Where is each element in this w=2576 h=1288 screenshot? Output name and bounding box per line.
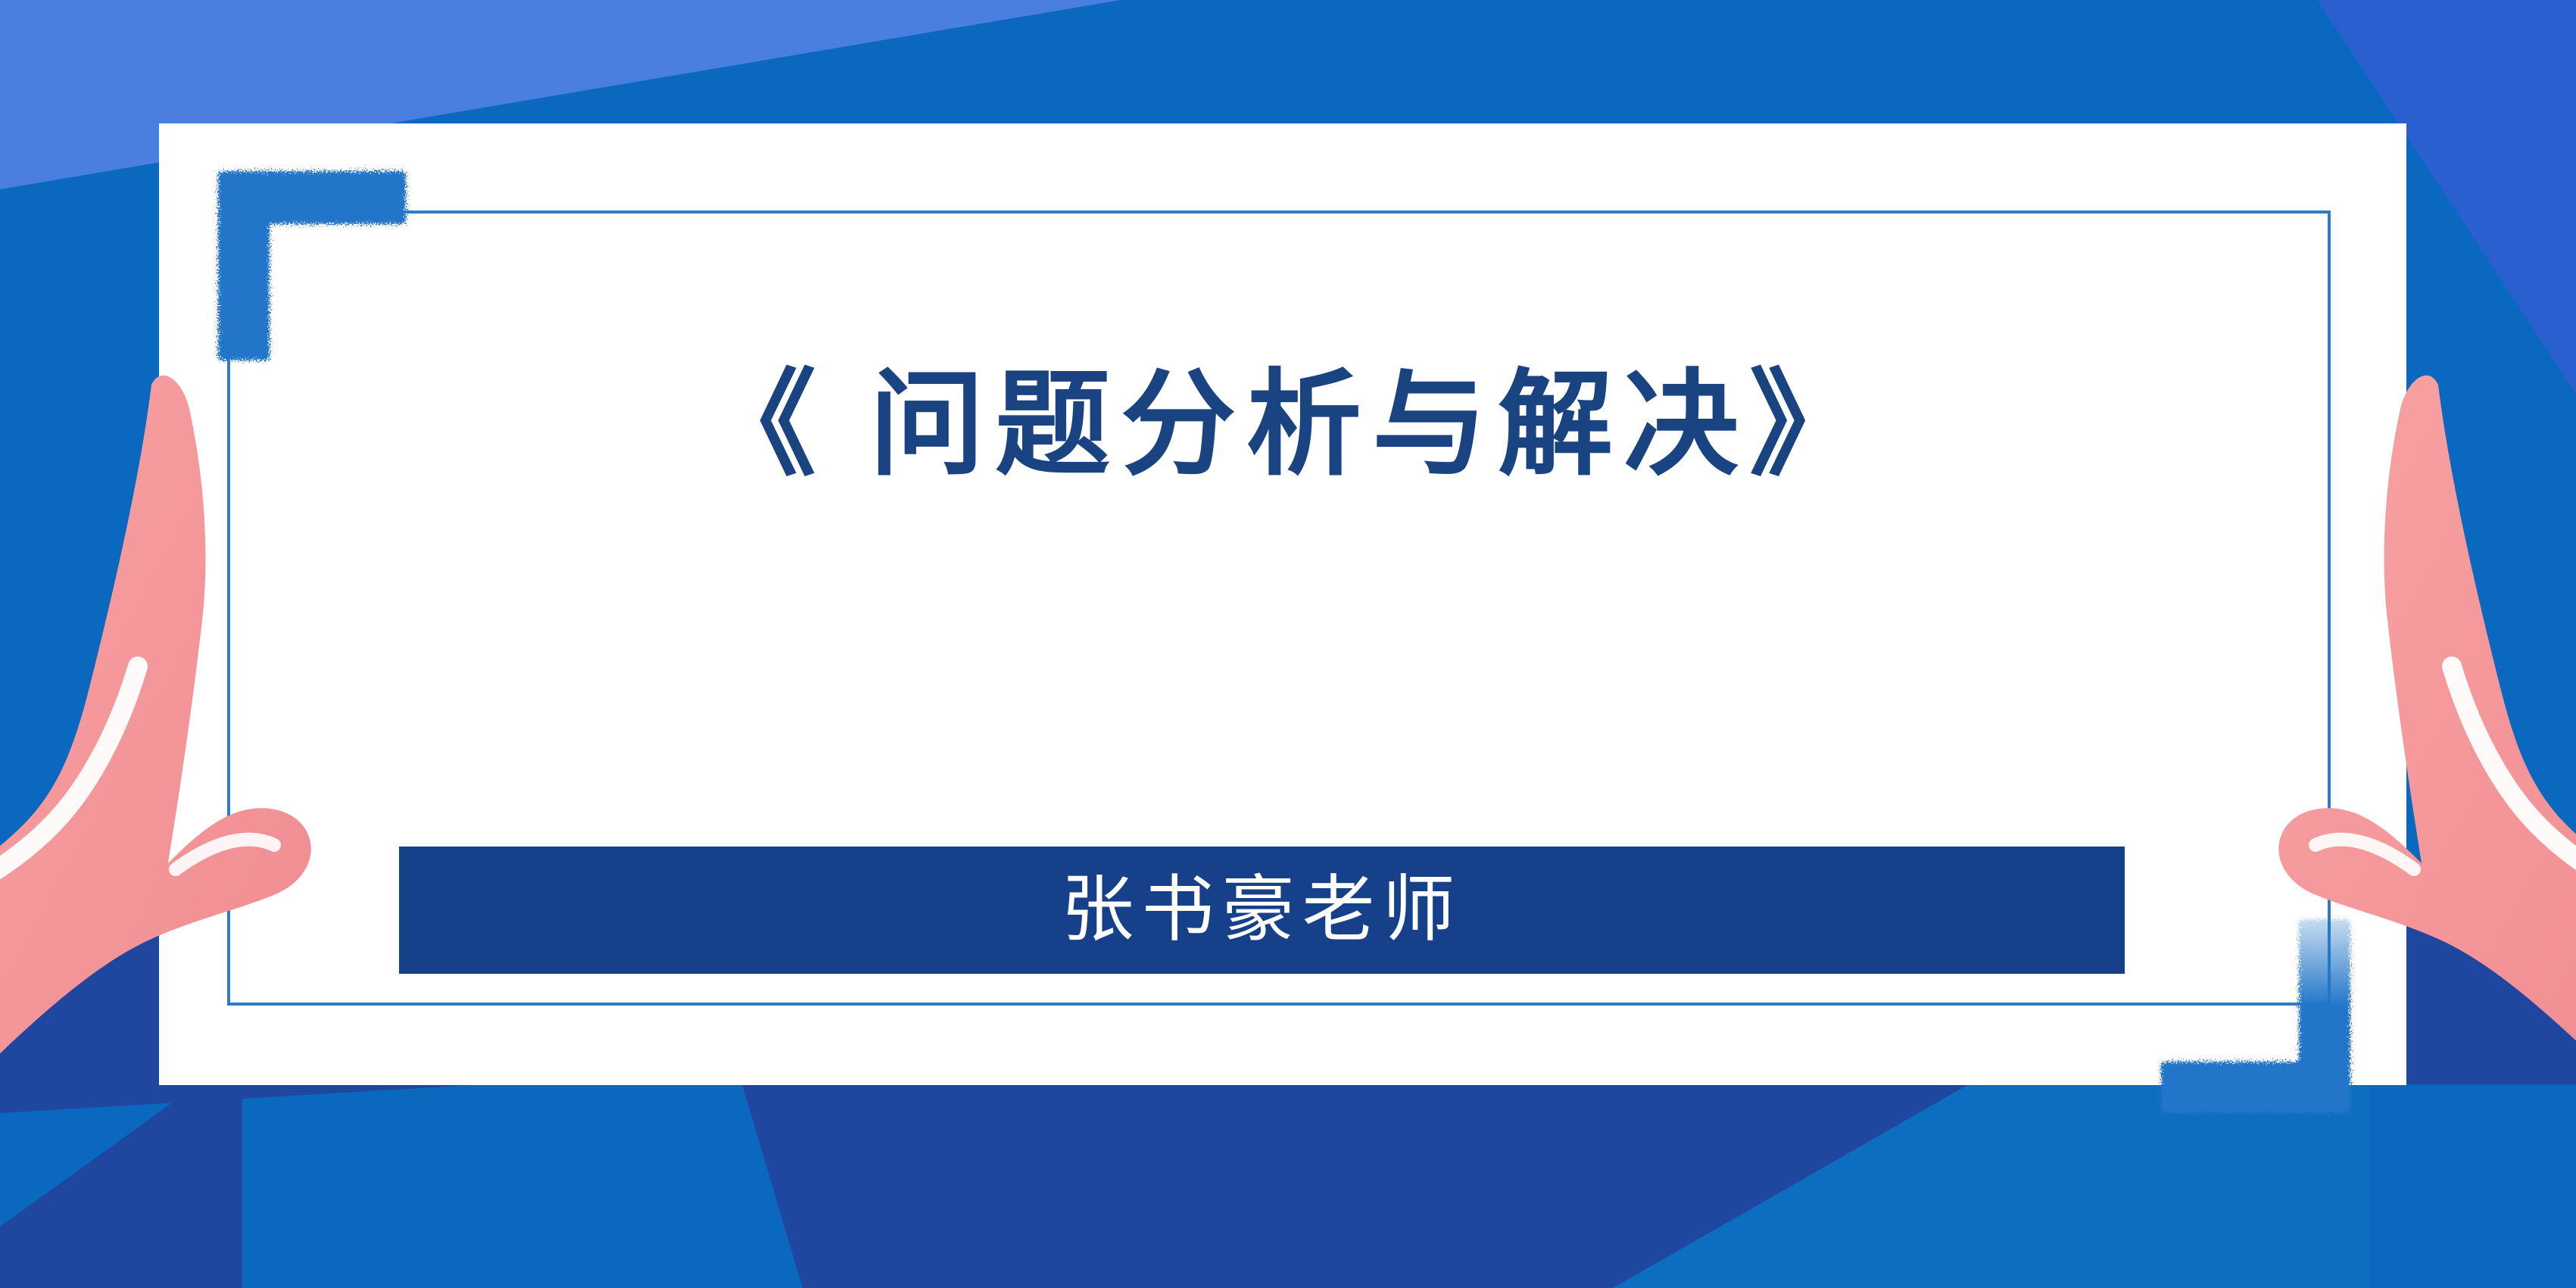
presentation-slide: 《 问题分析与解决》 张书豪老师: [0, 0, 2576, 1288]
slide-title: 《 问题分析与解决》: [0, 353, 2576, 497]
presenter-name: 张书豪老师: [1062, 874, 1463, 947]
presenter-name-bar: 张书豪老师: [399, 847, 2125, 974]
